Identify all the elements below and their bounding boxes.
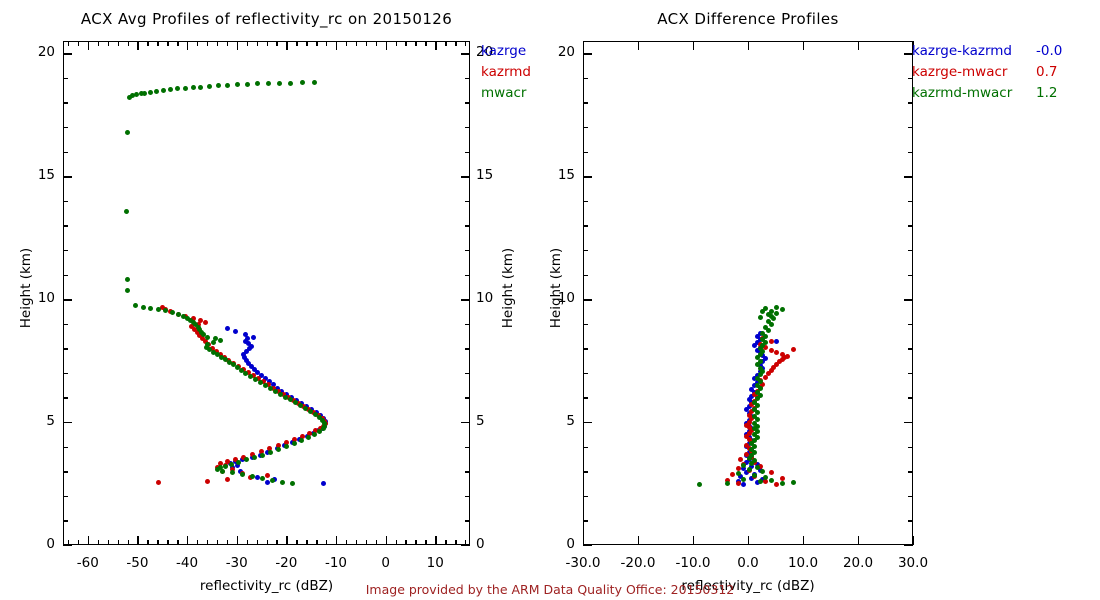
data-point <box>203 320 208 325</box>
y-tick-minor <box>63 250 68 251</box>
y-tick-minor <box>583 250 588 251</box>
data-point <box>154 89 159 94</box>
x-tick-minor-top <box>376 41 377 46</box>
data-point <box>236 460 241 465</box>
data-point <box>156 480 161 485</box>
x-tick-major-top <box>858 41 859 50</box>
y-tick-minor-right <box>465 127 470 128</box>
data-point <box>785 354 790 359</box>
y-tick-minor <box>583 102 588 103</box>
x-tick-minor-top <box>386 41 387 46</box>
data-point <box>760 309 765 314</box>
x-tick-major-top <box>583 41 584 50</box>
x-tick-major <box>913 536 914 545</box>
x-tick-minor <box>187 540 188 545</box>
data-point <box>321 481 326 486</box>
x-tick-minor-top <box>257 41 258 46</box>
data-point <box>791 480 796 485</box>
data-point <box>124 209 129 214</box>
y-tick-minor-right <box>908 348 913 349</box>
y-tick-minor <box>63 496 68 497</box>
plot-page: ACX Avg Profiles of reflectivity_rc on 2… <box>0 0 1100 600</box>
panel-difference-profiles: ACX Difference Profiles -30.0-20.0-10.00… <box>540 0 1100 600</box>
data-point <box>780 481 785 486</box>
y-tick-minor <box>583 545 588 546</box>
x-tick-minor <box>366 540 367 545</box>
y-tick-label: 20 <box>11 44 55 60</box>
x-tick-minor-top <box>396 41 397 46</box>
y-tick-minor <box>63 275 68 276</box>
y-tick-minor <box>583 496 588 497</box>
data-point <box>260 453 265 458</box>
x-tick-minor-top <box>435 41 436 46</box>
x-tick-minor-top <box>237 41 238 46</box>
y-tick-minor-right <box>908 397 913 398</box>
data-point <box>141 305 146 310</box>
data-point <box>268 450 273 455</box>
x-tick-minor <box>415 540 416 545</box>
y-tick-minor <box>583 348 588 349</box>
data-point <box>183 86 188 91</box>
y-tick-minor-right <box>908 250 913 251</box>
x-tick-minor-top <box>296 41 297 46</box>
y-tick-minor <box>583 275 588 276</box>
data-point <box>290 481 295 486</box>
x-tick-minor <box>88 540 89 545</box>
x-tick-minor-top <box>98 41 99 46</box>
y-tick-minor <box>583 397 588 398</box>
x-tick-minor <box>286 540 287 545</box>
data-point <box>276 447 281 452</box>
y-tick-minor <box>63 422 68 423</box>
data-point <box>308 409 313 414</box>
x-tick-label: 10 <box>395 555 475 571</box>
y-tick-minor-right <box>908 201 913 202</box>
y-tick-minor-right <box>465 545 470 546</box>
y-tick-minor <box>63 397 68 398</box>
data-point <box>769 470 774 475</box>
x-tick-minor <box>336 540 337 545</box>
data-point <box>251 335 256 340</box>
x-tick-minor <box>217 540 218 545</box>
data-point <box>270 478 275 483</box>
panel-0-plot-frame <box>63 41 470 545</box>
x-tick-minor <box>118 540 119 545</box>
data-point <box>736 471 741 476</box>
y-tick-minor-right <box>465 275 470 276</box>
y-tick-minor <box>63 176 68 177</box>
x-tick-major <box>583 536 584 545</box>
y-tick-minor <box>63 225 68 226</box>
x-tick-minor-top <box>326 41 327 46</box>
data-point <box>725 481 730 486</box>
x-tick-minor-top <box>247 41 248 46</box>
data-point <box>769 348 774 353</box>
y-tick-minor <box>63 78 68 79</box>
panel-1-ylabel: Height (km) <box>548 143 564 433</box>
data-point <box>205 479 210 484</box>
y-tick-minor-right <box>908 471 913 472</box>
y-tick-label: 0 <box>11 536 55 552</box>
y-tick-minor <box>63 299 68 300</box>
x-tick-minor-top <box>455 41 456 46</box>
legend-series-label: kazrge <box>481 41 526 62</box>
y-tick-minor-right <box>465 373 470 374</box>
y-tick-minor-right <box>465 176 470 177</box>
data-point <box>240 472 245 477</box>
y-tick-minor <box>583 152 588 153</box>
x-tick-major-top <box>638 41 639 50</box>
data-point <box>233 329 238 334</box>
x-tick-minor <box>296 540 297 545</box>
data-point <box>280 480 285 485</box>
legend-series-label: kazrmd-mwacr <box>912 83 1012 104</box>
data-point <box>760 469 765 474</box>
data-point <box>220 469 225 474</box>
x-tick-minor-top <box>445 41 446 46</box>
data-point <box>769 478 774 483</box>
x-tick-minor <box>425 540 426 545</box>
y-tick-minor <box>583 373 588 374</box>
x-tick-minor-top <box>316 41 317 46</box>
data-point <box>243 332 248 337</box>
data-point <box>218 338 223 343</box>
data-point <box>317 429 322 434</box>
x-tick-minor <box>405 540 406 545</box>
data-point <box>156 307 161 312</box>
x-tick-minor-top <box>346 41 347 46</box>
x-tick-minor <box>445 540 446 545</box>
data-point <box>176 312 181 317</box>
y-tick-minor <box>583 471 588 472</box>
x-tick-minor <box>386 540 387 545</box>
data-point <box>170 310 175 315</box>
data-point <box>216 83 221 88</box>
panel-0-ylabel-right: Height (km) <box>500 143 516 433</box>
data-point <box>780 307 785 312</box>
x-tick-minor <box>108 540 109 545</box>
x-tick-minor <box>177 540 178 545</box>
data-point <box>744 443 749 448</box>
y-tick-minor-right <box>465 348 470 349</box>
y-tick-minor <box>63 53 68 54</box>
x-tick-minor <box>137 540 138 545</box>
data-point <box>255 81 260 86</box>
legend-series-value: 0.7 <box>1036 62 1057 83</box>
x-tick-minor <box>197 540 198 545</box>
data-point <box>225 83 230 88</box>
x-tick-minor <box>435 540 436 545</box>
y-tick-minor-right <box>465 324 470 325</box>
x-tick-minor <box>157 540 158 545</box>
x-tick-minor-top <box>197 41 198 46</box>
data-point <box>758 315 763 320</box>
y-tick-minor-right <box>465 299 470 300</box>
y-tick-minor-right <box>465 152 470 153</box>
y-tick-minor <box>583 447 588 448</box>
x-tick-minor <box>78 540 79 545</box>
x-tick-minor <box>128 540 129 545</box>
x-tick-minor-top <box>217 41 218 46</box>
data-point <box>312 80 317 85</box>
data-point <box>774 350 779 355</box>
y-tick-minor-right <box>908 127 913 128</box>
y-tick-minor <box>63 127 68 128</box>
data-point <box>780 352 785 357</box>
y-tick-minor <box>583 299 588 300</box>
y-tick-minor-right <box>465 447 470 448</box>
x-tick-minor <box>167 540 168 545</box>
data-point <box>225 477 230 482</box>
x-tick-minor-top <box>366 41 367 46</box>
data-point <box>758 479 763 484</box>
data-point <box>161 88 166 93</box>
data-point <box>741 477 746 482</box>
x-tick-minor <box>316 540 317 545</box>
data-point <box>142 91 147 96</box>
data-point <box>198 85 203 90</box>
data-point <box>211 340 216 345</box>
data-point <box>312 432 317 437</box>
data-point <box>774 311 779 316</box>
y-tick-minor <box>583 520 588 521</box>
x-tick-minor <box>147 540 148 545</box>
x-tick-minor <box>257 540 258 545</box>
y-tick-label-right: 0 <box>476 536 516 552</box>
x-tick-minor-top <box>227 41 228 46</box>
y-tick-minor <box>63 348 68 349</box>
y-tick-minor-right <box>465 225 470 226</box>
y-tick-minor-right <box>465 496 470 497</box>
x-tick-minor-top <box>177 41 178 46</box>
x-tick-minor-top <box>128 41 129 46</box>
y-tick-minor-right <box>908 520 913 521</box>
y-tick-minor <box>63 324 68 325</box>
data-point <box>284 444 289 449</box>
data-point <box>741 482 746 487</box>
y-tick-minor-right <box>908 225 913 226</box>
x-tick-minor-top <box>88 41 89 46</box>
x-tick-minor-top <box>425 41 426 46</box>
y-tick-minor-right <box>465 422 470 423</box>
data-point <box>306 435 311 440</box>
x-tick-minor <box>455 540 456 545</box>
legend-series-label: kazrge-kazrmd <box>912 41 1012 62</box>
data-point <box>697 482 702 487</box>
panel-1-data-area <box>584 42 912 544</box>
y-tick-minor-right <box>465 201 470 202</box>
y-tick-minor-right <box>908 176 913 177</box>
data-point <box>774 482 779 487</box>
data-point <box>125 130 130 135</box>
y-tick-minor-right <box>465 53 470 54</box>
data-point <box>207 84 212 89</box>
x-tick-minor-top <box>336 41 337 46</box>
panel-avg-profiles: ACX Avg Profiles of reflectivity_rc on 2… <box>0 0 540 600</box>
data-point <box>125 277 130 282</box>
panel-1-plot-frame <box>583 41 913 545</box>
y-tick-minor-right <box>465 102 470 103</box>
x-tick-minor <box>396 540 397 545</box>
panel-0-ylabel: Height (km) <box>18 143 34 433</box>
data-point <box>198 318 203 323</box>
data-point <box>277 81 282 86</box>
x-tick-minor-top <box>157 41 158 46</box>
x-tick-minor <box>346 540 347 545</box>
y-tick-minor-right <box>908 275 913 276</box>
data-point <box>774 339 779 344</box>
x-tick-minor <box>276 540 277 545</box>
data-point <box>244 457 249 462</box>
y-tick-minor <box>583 127 588 128</box>
data-point <box>191 85 196 90</box>
x-tick-minor <box>306 540 307 545</box>
x-tick-minor <box>227 540 228 545</box>
x-tick-minor <box>237 540 238 545</box>
y-tick-minor-right <box>908 152 913 153</box>
y-tick-minor-right <box>908 373 913 374</box>
x-tick-major-top <box>748 41 749 50</box>
y-tick-minor <box>63 520 68 521</box>
x-tick-major-top <box>693 41 694 50</box>
y-tick-minor-right <box>908 447 913 448</box>
data-point <box>791 347 796 352</box>
y-tick-minor-right <box>908 299 913 300</box>
y-tick-minor <box>63 447 68 448</box>
data-point <box>299 438 304 443</box>
legend-series-label: kazrge-mwacr <box>912 62 1007 83</box>
data-point <box>292 441 297 446</box>
x-tick-minor-top <box>108 41 109 46</box>
y-tick-minor <box>583 422 588 423</box>
x-tick-major <box>858 536 859 545</box>
x-tick-minor-top <box>276 41 277 46</box>
data-point <box>300 80 305 85</box>
data-point <box>133 303 138 308</box>
data-point <box>223 464 228 469</box>
x-tick-minor-top <box>356 41 357 46</box>
data-point <box>736 481 741 486</box>
x-tick-major <box>638 536 639 545</box>
y-tick-label: 0 <box>531 536 575 552</box>
data-point <box>265 473 270 478</box>
legend-series-label: kazrmd <box>481 62 531 83</box>
y-tick-minor-right <box>908 324 913 325</box>
x-tick-minor <box>207 540 208 545</box>
y-tick-minor <box>63 471 68 472</box>
x-tick-label: 30.0 <box>873 555 953 571</box>
y-tick-minor-right <box>465 520 470 521</box>
data-point <box>266 81 271 86</box>
y-tick-minor <box>63 373 68 374</box>
y-tick-minor-right <box>465 250 470 251</box>
x-tick-minor-top <box>207 41 208 46</box>
x-tick-minor-top <box>78 41 79 46</box>
footer-credit: Image provided by the ARM Data Quality O… <box>250 582 850 597</box>
data-point <box>205 335 210 340</box>
x-tick-minor-top <box>187 41 188 46</box>
x-tick-minor <box>68 540 69 545</box>
x-tick-minor-top <box>118 41 119 46</box>
y-tick-minor <box>583 53 588 54</box>
x-tick-minor <box>98 540 99 545</box>
panel-0-title: ACX Avg Profiles of reflectivity_rc on 2… <box>63 10 470 28</box>
panel-1-title: ACX Difference Profiles <box>583 10 913 28</box>
data-point <box>230 470 235 475</box>
x-tick-minor-top <box>137 41 138 46</box>
x-tick-major-top <box>803 41 804 50</box>
x-tick-minor <box>326 540 327 545</box>
data-point <box>245 82 250 87</box>
x-tick-minor-top <box>405 41 406 46</box>
x-tick-minor <box>356 540 357 545</box>
y-tick-minor <box>583 176 588 177</box>
x-tick-minor-top <box>167 41 168 46</box>
data-point <box>747 467 752 472</box>
data-point <box>175 86 180 91</box>
x-tick-major <box>803 536 804 545</box>
y-tick-minor-right <box>908 545 913 546</box>
x-tick-minor-top <box>306 41 307 46</box>
x-tick-major <box>693 536 694 545</box>
y-tick-label: 20 <box>531 44 575 60</box>
y-tick-minor-right <box>465 397 470 398</box>
data-point <box>769 339 774 344</box>
legend-series-value: -0.0 <box>1036 41 1062 62</box>
y-tick-minor <box>63 545 68 546</box>
x-tick-minor <box>247 540 248 545</box>
y-tick-minor-right <box>465 471 470 472</box>
y-tick-minor <box>63 102 68 103</box>
y-tick-minor <box>583 324 588 325</box>
x-tick-minor-top <box>267 41 268 46</box>
x-tick-minor-top <box>415 41 416 46</box>
y-tick-minor-right <box>465 78 470 79</box>
data-point <box>148 90 153 95</box>
x-tick-minor-top <box>286 41 287 46</box>
y-tick-minor-right <box>908 496 913 497</box>
y-tick-minor <box>63 201 68 202</box>
x-tick-minor <box>267 540 268 545</box>
data-point <box>235 82 240 87</box>
x-tick-minor <box>376 540 377 545</box>
data-point <box>168 87 173 92</box>
y-tick-minor <box>583 78 588 79</box>
data-point <box>730 472 735 477</box>
data-point <box>288 81 293 86</box>
data-point <box>125 288 130 293</box>
x-tick-minor-top <box>68 41 69 46</box>
y-tick-minor-right <box>908 422 913 423</box>
legend-series-label: mwacr <box>481 83 526 104</box>
x-tick-minor-top <box>147 41 148 46</box>
y-tick-minor <box>583 201 588 202</box>
x-tick-minor-top <box>465 41 466 46</box>
panel-0-data-area <box>64 42 469 544</box>
data-point <box>774 305 779 310</box>
y-tick-minor <box>583 225 588 226</box>
legend-series-value: 1.2 <box>1036 83 1057 104</box>
y-tick-minor <box>63 152 68 153</box>
data-point <box>148 306 153 311</box>
data-point <box>252 455 257 460</box>
x-tick-major <box>748 536 749 545</box>
data-point <box>225 326 230 331</box>
